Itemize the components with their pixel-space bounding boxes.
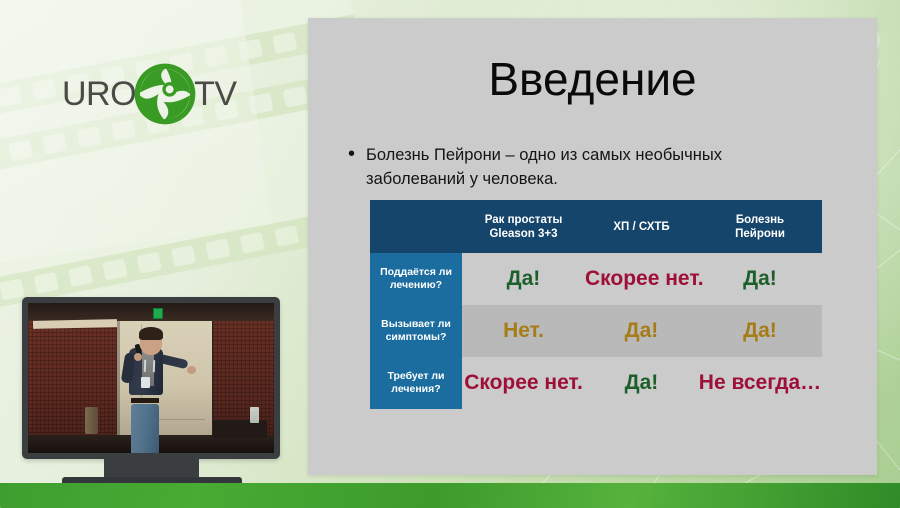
cell-r2c1: Да! bbox=[585, 357, 698, 409]
row2-label-line1: Требует ли bbox=[370, 370, 462, 383]
cell-r2c2: Не всегда… bbox=[698, 357, 822, 409]
bullet-marker-icon: • bbox=[348, 142, 355, 191]
col2-line2: Пейрони bbox=[698, 227, 822, 241]
table-row: Требует ли лечения? Скорее нет. Да! Не в… bbox=[370, 357, 822, 409]
row0-label-line1: Поддаётся ли bbox=[370, 266, 462, 279]
presentation-slide: Введение • Болезнь Пейрони – одно из сам… bbox=[308, 18, 877, 475]
table-corner-cell bbox=[370, 200, 462, 253]
table-column-header-peyronie: Болезнь Пейрони bbox=[698, 200, 822, 253]
row1-label-line1: Вызывает ли bbox=[370, 318, 462, 331]
table-body: Поддаётся ли лечению? Да! Скорее нет. Да… bbox=[370, 253, 822, 409]
video-water-glass bbox=[250, 407, 259, 423]
speaker-hair bbox=[139, 327, 163, 340]
video-monitor[interactable] bbox=[22, 297, 280, 459]
row-label-treatable: Поддаётся ли лечению? bbox=[370, 253, 462, 305]
table-row: Вызывает ли симптомы? Нет. Да! Да! bbox=[370, 305, 822, 357]
comparison-table: Рак простаты Gleason 3+3 ХП / СХТБ Болез… bbox=[370, 200, 822, 409]
screenshot-stage: URO TV bbox=[0, 0, 900, 508]
speaker-lanyard bbox=[143, 360, 154, 372]
speaker-right-hand bbox=[187, 366, 196, 374]
cell-r0c0: Да! bbox=[462, 253, 585, 305]
bottom-green-band bbox=[0, 483, 900, 508]
video-screen[interactable] bbox=[28, 303, 274, 453]
speaker-left-hand bbox=[134, 353, 142, 361]
video-bin bbox=[85, 407, 98, 434]
cell-r1c1: Да! bbox=[585, 305, 698, 357]
table-column-header-cpps: ХП / СХТБ bbox=[585, 200, 698, 253]
cell-r0c1: Скорее нет. bbox=[585, 253, 698, 305]
video-wall-trim bbox=[33, 319, 117, 328]
row-label-symptoms: Вызывает ли симптомы? bbox=[370, 305, 462, 357]
table-column-header-prostate-cancer: Рак простаты Gleason 3+3 bbox=[462, 200, 585, 253]
cell-r2c0: Скорее нет. bbox=[462, 357, 585, 409]
exit-sign-icon bbox=[153, 308, 163, 319]
row-label-needs-treatment: Требует ли лечения? bbox=[370, 357, 462, 409]
cell-r0c2: Да! bbox=[698, 253, 822, 305]
col1-line1: ХП / СХТБ bbox=[585, 220, 698, 234]
speaker-badge bbox=[141, 377, 150, 388]
urotv-logo: URO TV bbox=[62, 58, 237, 130]
row2-label-line2: лечения? bbox=[370, 383, 462, 396]
logo-text-uro: URO bbox=[62, 77, 136, 111]
table-header: Рак простаты Gleason 3+3 ХП / СХТБ Болез… bbox=[370, 200, 822, 253]
video-ceiling-beam bbox=[28, 303, 274, 321]
table-row: Поддаётся ли лечению? Да! Скорее нет. Да… bbox=[370, 253, 822, 305]
speaker-belt bbox=[131, 398, 159, 403]
col0-line2: Gleason 3+3 bbox=[462, 227, 585, 241]
col0-line1: Рак простаты bbox=[462, 213, 585, 227]
row0-label-line2: лечению? bbox=[370, 279, 462, 292]
cell-r1c0: Нет. bbox=[462, 305, 585, 357]
row1-label-line2: симптомы? bbox=[370, 331, 462, 344]
table-header-row: Рак простаты Gleason 3+3 ХП / СХТБ Болез… bbox=[370, 200, 822, 253]
col2-line1: Болезнь bbox=[698, 213, 822, 227]
logo-text-tv: TV bbox=[194, 77, 236, 111]
bullet-text: Болезнь Пейрони – одно из самых необычны… bbox=[366, 143, 818, 191]
bullet-item: • Болезнь Пейрони – одно из самых необыч… bbox=[348, 143, 818, 191]
speaker-legs bbox=[131, 404, 159, 454]
page-title: Введение bbox=[308, 56, 877, 102]
uro-swirl-emblem-icon bbox=[132, 61, 198, 127]
cell-r1c2: Да! bbox=[698, 305, 822, 357]
